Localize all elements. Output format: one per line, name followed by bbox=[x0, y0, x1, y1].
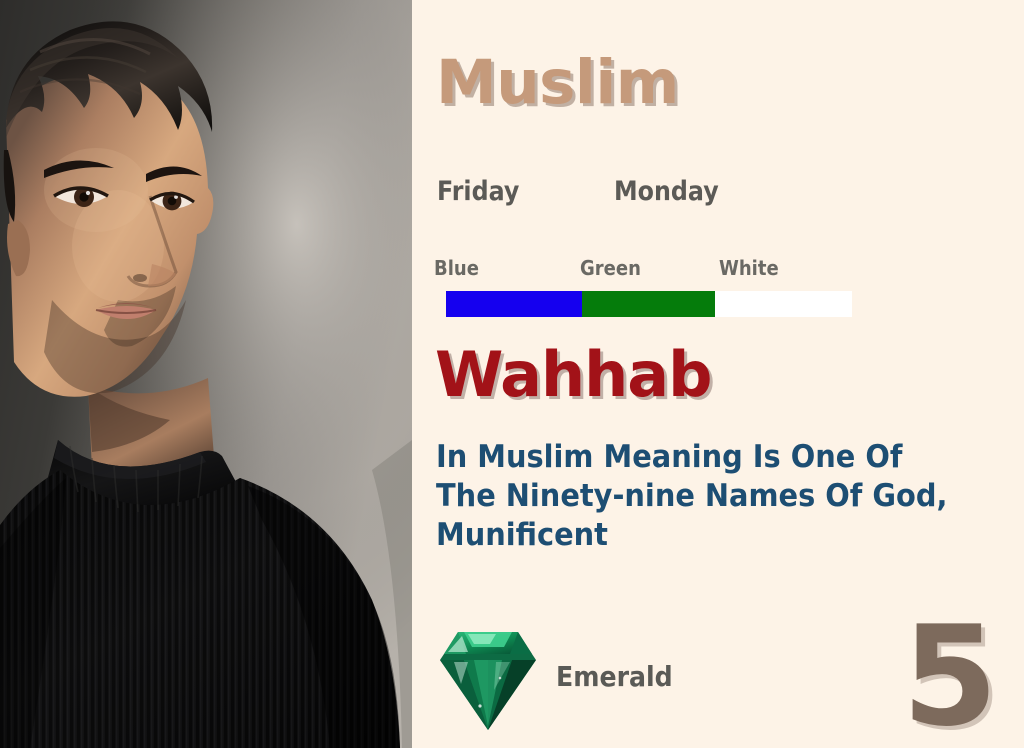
lucky-color-swatch-0 bbox=[446, 291, 582, 317]
name-title: Wahhab bbox=[435, 344, 712, 406]
origin-title: Muslim bbox=[436, 52, 679, 113]
portrait-photo bbox=[0, 0, 412, 748]
lucky-gem-label: Emerald bbox=[556, 663, 673, 691]
lucky-days-row: Friday Monday bbox=[437, 178, 997, 212]
lucky-number: 5 bbox=[902, 608, 998, 746]
lucky-colors-labels: Blue Green White bbox=[434, 258, 854, 284]
lucky-color-label-0: Blue bbox=[434, 258, 479, 278]
lucky-day-1: Monday bbox=[614, 178, 719, 205]
lucky-color-swatch-2 bbox=[715, 291, 852, 317]
lucky-color-swatch-1 bbox=[582, 291, 715, 317]
meaning-text: In Muslim Meaning Is One Of The Ninety-n… bbox=[436, 438, 962, 554]
emerald-gem-icon bbox=[434, 622, 542, 732]
name-meaning-card: Muslim Friday Monday Blue Green White Wa… bbox=[0, 0, 1024, 748]
lucky-day-0: Friday bbox=[437, 178, 519, 205]
lucky-color-label-2: White bbox=[719, 258, 779, 278]
lucky-colors-bar bbox=[446, 291, 852, 317]
lucky-color-label-1: Green bbox=[580, 258, 641, 278]
lucky-colors-block: Blue Green White bbox=[434, 258, 854, 284]
lucky-gem-row: Emerald bbox=[434, 622, 686, 732]
content-panel: Muslim Friday Monday Blue Green White Wa… bbox=[412, 0, 1024, 748]
